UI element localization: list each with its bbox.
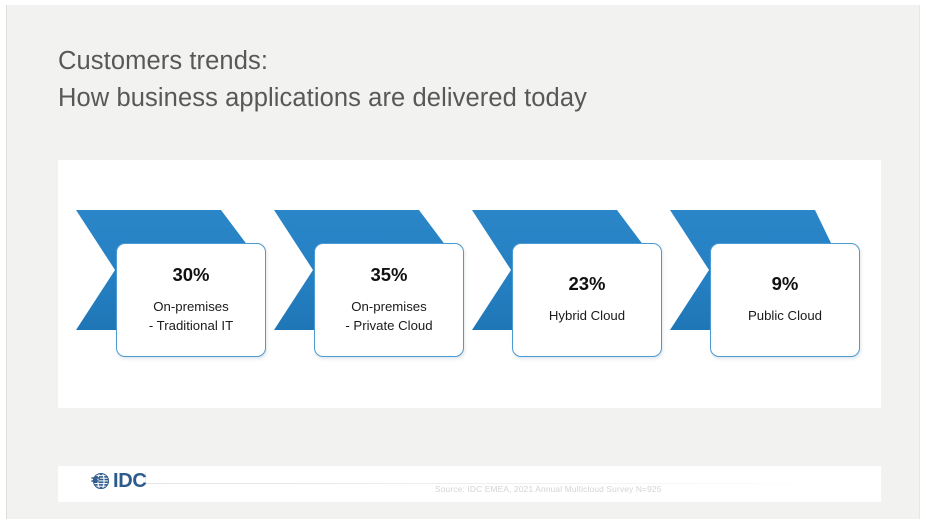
metric-card-3[interactable]: 23% Hybrid Cloud: [512, 243, 662, 357]
metric-label-line-1: On-premises: [153, 298, 228, 317]
metric-label-line-1: On-premises: [351, 298, 426, 317]
metric-label-line-2: - Traditional IT: [149, 317, 233, 336]
metric-label-line-1: Hybrid Cloud: [549, 307, 625, 326]
content-panel: 30% On-premises - Traditional IT 35% On-…: [58, 160, 881, 408]
idc-logo-text: IDC: [113, 471, 147, 491]
globe-icon: [90, 470, 112, 492]
idc-logo: IDC: [90, 470, 147, 492]
metric-label-line-1: Public Cloud: [748, 307, 822, 326]
metric-percent: 30%: [172, 265, 209, 285]
metric-card-1[interactable]: 30% On-premises - Traditional IT: [116, 243, 266, 357]
metric-label-line-2: - Private Cloud: [345, 317, 432, 336]
slide-canvas: Customers trends: How business applicati…: [6, 5, 920, 519]
title-line-1: Customers trends:: [58, 43, 838, 80]
source-note: Source: IDC EMEA, 2021 Annual Multicloud…: [435, 484, 662, 494]
slide: Customers trends: How business applicati…: [0, 0, 926, 524]
page-title: Customers trends: How business applicati…: [58, 43, 838, 117]
title-line-2: How business applications are delivered …: [58, 80, 838, 117]
metric-percent: 35%: [370, 265, 407, 285]
metric-percent: 23%: [568, 274, 605, 294]
metric-card-4[interactable]: 9% Public Cloud: [710, 243, 860, 357]
metric-percent: 9%: [772, 274, 799, 294]
metric-card-2[interactable]: 35% On-premises - Private Cloud: [314, 243, 464, 357]
